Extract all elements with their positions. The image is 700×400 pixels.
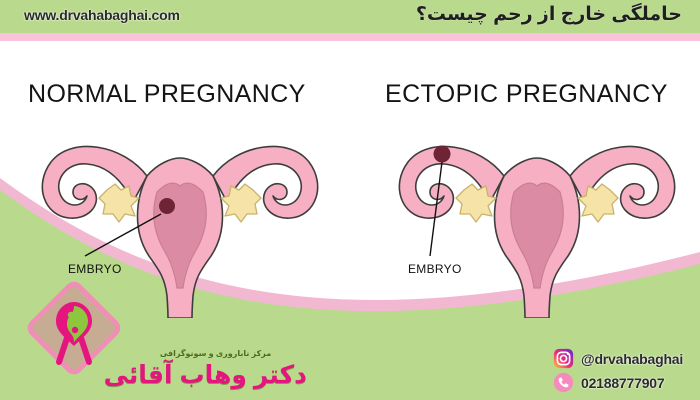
site-url[interactable]: www.drvahabaghai.com — [24, 7, 180, 23]
doctor-name: دکتر وهاب آقائی — [122, 360, 307, 390]
clinic-subtitle: مرکز ناباروری و سونوگرافی — [133, 349, 298, 358]
phone-number[interactable]: 02188777907 — [581, 375, 664, 391]
embryo-dot-normal — [159, 198, 175, 214]
page-title-fa: حاملگی خارج از رحم چیست؟ — [416, 3, 682, 26]
header-pink-strip — [0, 33, 700, 41]
panel-title-normal: NORMAL PREGNANCY — [28, 80, 306, 109]
panel-title-ectopic: ECTOPIC PREGNANCY — [385, 80, 668, 109]
uterus-diagram-ectopic — [372, 128, 700, 318]
phone-row[interactable]: 02188777907 — [553, 372, 664, 393]
embryo-label-normal: EMBRYO — [68, 262, 122, 276]
instagram-row[interactable]: @drvahabaghai — [553, 348, 683, 369]
instagram-handle[interactable]: @drvahabaghai — [581, 351, 683, 367]
embryo-label-ectopic: EMBRYO — [408, 262, 462, 276]
instagram-icon[interactable] — [553, 348, 574, 369]
embryo-dot-ectopic — [434, 146, 451, 163]
phone-icon[interactable] — [553, 372, 574, 393]
infographic-page: www.drvahabaghai.com حاملگی خارج از رحم … — [0, 0, 700, 400]
